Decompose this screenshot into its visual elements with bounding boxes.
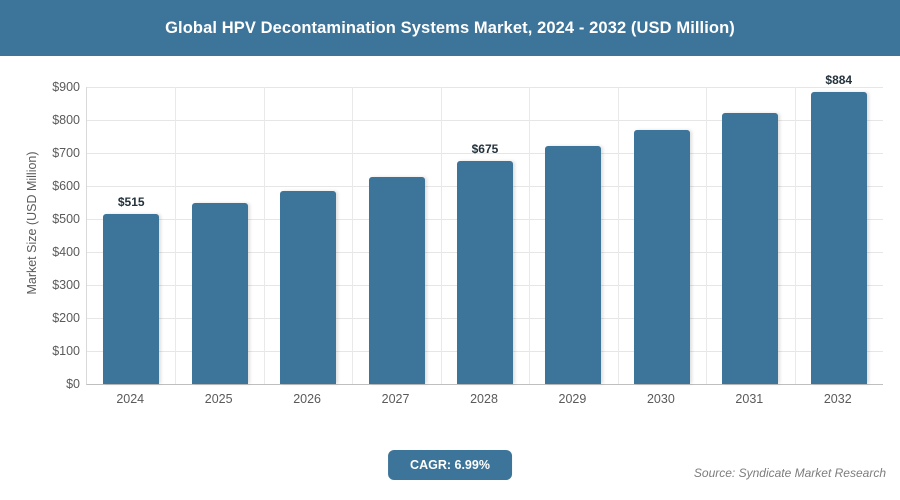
y-axis-tick-label: $0 — [30, 377, 80, 391]
bar-slot — [529, 87, 617, 384]
bar-slot: $515 — [87, 87, 175, 384]
bar[interactable] — [634, 130, 690, 384]
x-axis-tick-label: 2029 — [559, 392, 587, 406]
bar-value-label: $884 — [825, 73, 852, 87]
x-axis-tick-label: 2032 — [824, 392, 852, 406]
y-axis-tick-label: $100 — [30, 344, 80, 358]
bar-slot — [352, 87, 440, 384]
bar-slot: $675 — [441, 87, 529, 384]
x-axis-tick-label: 2025 — [205, 392, 233, 406]
bar-slot — [618, 87, 706, 384]
bar[interactable] — [103, 214, 159, 384]
x-axis-tick-label: 2030 — [647, 392, 675, 406]
bar-value-label: $515 — [118, 195, 145, 209]
source-note: Source: Syndicate Market Research — [694, 466, 886, 480]
x-axis-tick-labels: 202420252026202720282029203020312032 — [86, 392, 882, 416]
page-title: Global HPV Decontamination Systems Marke… — [165, 19, 735, 38]
x-axis-tick-label: 2028 — [470, 392, 498, 406]
chart-card: Global HPV Decontamination Systems Marke… — [0, 0, 900, 500]
y-axis-tick-label: $400 — [30, 245, 80, 259]
plot-area: $515$675$884 — [86, 87, 883, 385]
bar[interactable] — [369, 177, 425, 384]
bar-value-label: $675 — [472, 142, 499, 156]
bar[interactable] — [545, 146, 601, 384]
y-axis-tick-label: $900 — [30, 80, 80, 94]
y-axis-tick-label: $600 — [30, 179, 80, 193]
cagr-badge: CAGR: 6.99% — [388, 450, 512, 480]
bar-slot — [175, 87, 263, 384]
x-axis-tick-label: 2027 — [382, 392, 410, 406]
y-axis-tick-label: $300 — [30, 278, 80, 292]
bars-layer: $515$675$884 — [87, 87, 883, 384]
bar-slot: $884 — [795, 87, 883, 384]
bar-slot — [706, 87, 794, 384]
x-axis-tick-label: 2026 — [293, 392, 321, 406]
x-axis-tick-label: 2024 — [116, 392, 144, 406]
bar-slot — [264, 87, 352, 384]
bar[interactable] — [280, 191, 336, 384]
bar[interactable] — [722, 113, 778, 384]
gridline-horizontal — [87, 384, 883, 385]
y-axis-tick-label: $500 — [30, 212, 80, 226]
x-axis-tick-label: 2031 — [735, 392, 763, 406]
y-axis-tick-labels: $0$100$200$300$400$500$600$700$800$900 — [30, 56, 80, 416]
y-axis-tick-label: $800 — [30, 113, 80, 127]
y-axis-tick-label: $700 — [30, 146, 80, 160]
plot-region: Market Size (USD Million) $0$100$200$300… — [0, 56, 900, 416]
bar[interactable] — [457, 161, 513, 384]
y-axis-tick-label: $200 — [30, 311, 80, 325]
bar[interactable] — [192, 203, 248, 384]
bar[interactable] — [811, 92, 867, 384]
chart-header: Global HPV Decontamination Systems Marke… — [0, 0, 900, 56]
